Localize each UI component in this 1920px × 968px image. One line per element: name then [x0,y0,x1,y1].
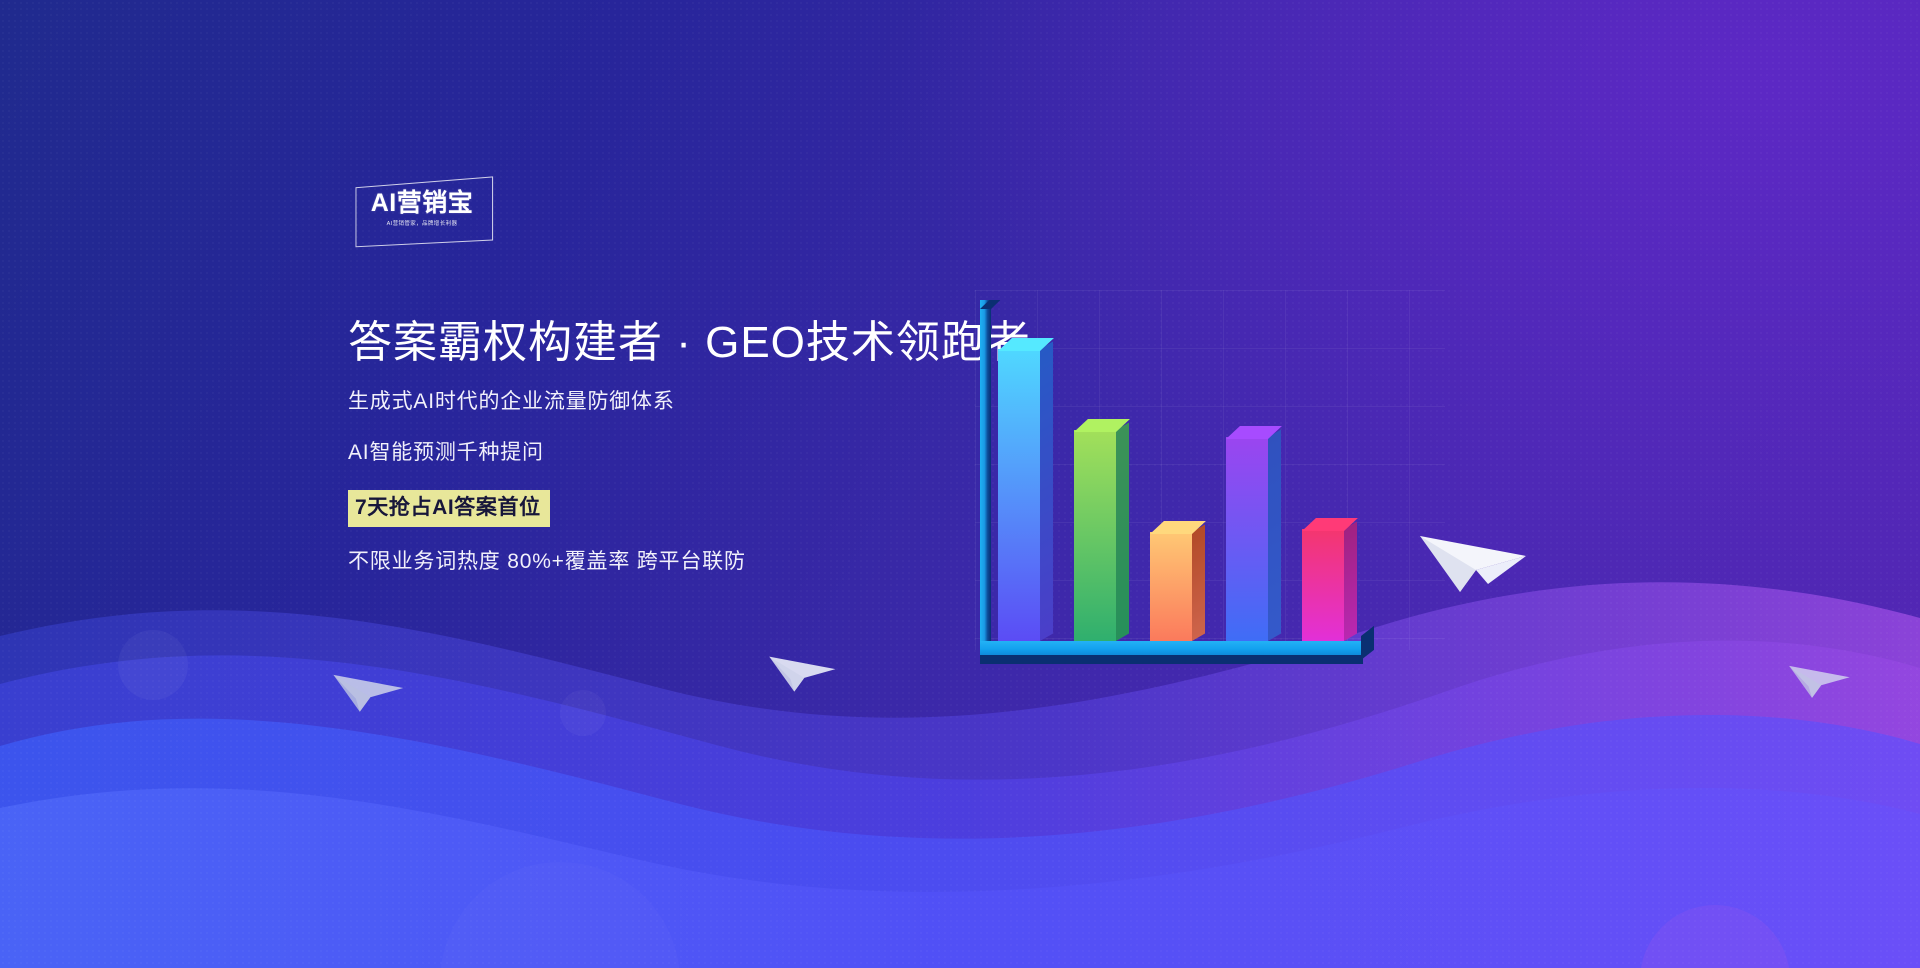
chart-bar [1226,437,1268,641]
paper-plane-icon [332,663,406,717]
logo-brand-name: AI营销宝 [352,191,492,216]
chart-bar-side [1268,429,1281,641]
subtitle-line-1: 生成式AI时代的企业流量防御体系 [348,389,1048,415]
chart-y-axis [980,300,991,660]
highlight-badge: 7天抢占AI答案首位 [348,490,550,527]
chart-bar-face [1302,529,1344,641]
chart-bar-side [1116,422,1129,641]
chart-bar-side [1040,341,1053,641]
hero-banner: AI营销宝 AI营销管家，品牌增长利器 答案霸权构建者 · GEO技术领跑者 生… [0,0,1920,968]
subtitle-line-2: AI智能预测千种提问 [348,440,1048,466]
paper-plane-icon [768,645,838,697]
hero-copy: 答案霸权构建者 · GEO技术领跑者 生成式AI时代的企业流量防御体系 AI智能… [348,318,1048,575]
chart-bar-face [998,349,1040,641]
chart-bar [1150,532,1192,641]
chart-bar-face [1074,430,1116,641]
chart-bar-face [1226,437,1268,641]
bar-chart-illustration [980,300,1400,660]
subtitle-line-3: 不限业务词热度 80%+覆盖率 跨平台联防 [348,549,1048,575]
chart-bar-side [1192,524,1205,641]
page-title: 答案霸权构建者 · GEO技术领跑者 [348,318,1048,367]
paper-plane-icon [1788,655,1852,703]
chart-bar-face [1150,532,1192,641]
chart-x-axis [980,641,1363,656]
chart-bar [998,349,1040,641]
wave-decoration [0,508,1920,968]
brand-logo[interactable]: AI营销宝 AI营销管家，品牌增长利器 [352,182,492,244]
chart-bars [998,301,1398,641]
chart-x-axis-front [980,655,1363,664]
chart-bar [1302,529,1344,641]
chart-bar-side [1344,521,1357,641]
chart-bar [1074,430,1116,641]
logo-slogan: AI营销管家，品牌增长利器 [358,221,487,227]
paper-plane-icon [1418,518,1530,600]
